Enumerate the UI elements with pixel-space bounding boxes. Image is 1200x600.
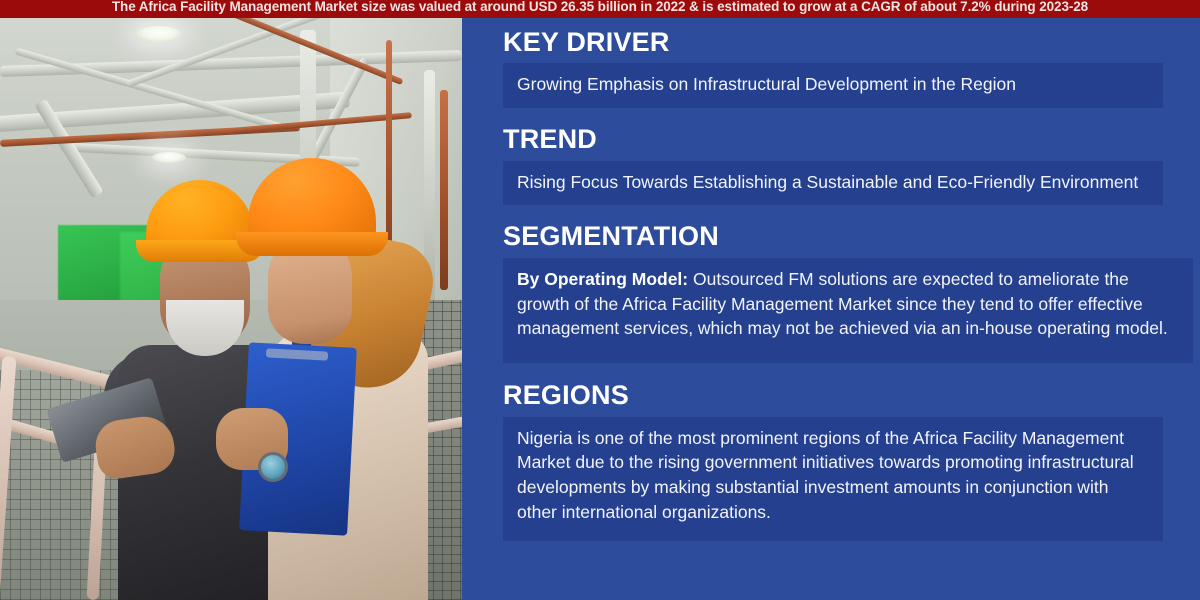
section-title-segmentation: SEGMENTATION (462, 222, 1200, 250)
section-segmentation: SEGMENTATION By Operating Model: Outsour… (462, 222, 1200, 363)
section-title-regions: REGIONS (462, 381, 1200, 409)
market-size-ticker-banner: The Africa Facility Management Market si… (0, 0, 1200, 18)
facility-management-photo (0, 0, 462, 600)
hard-hat-brim (236, 232, 388, 256)
section-title-trend: TREND (462, 125, 1200, 153)
infographic-root: The Africa Facility Management Market si… (0, 0, 1200, 600)
sections-list: KEY DRIVER Growing Emphasis on Infrastru… (462, 18, 1200, 541)
section-body-key-driver: Growing Emphasis on Infrastructural Deve… (503, 63, 1163, 108)
wrist-watch (258, 452, 288, 482)
photo-scene (0, 0, 462, 600)
section-key-driver: KEY DRIVER Growing Emphasis on Infrastru… (462, 28, 1200, 108)
ceiling-lamp (136, 26, 182, 42)
segmentation-lead-label: By Operating Model: (517, 269, 688, 289)
ticker-text: The Africa Facility Management Market si… (0, 0, 1200, 16)
section-body-trend: Rising Focus Towards Establishing a Sust… (503, 161, 1163, 206)
section-title-key-driver: KEY DRIVER (462, 28, 1200, 56)
rust-pipe (440, 90, 448, 290)
section-body-segmentation: By Operating Model: Outsourced FM soluti… (503, 258, 1193, 364)
content-panel: KEY DRIVER Growing Emphasis on Infrastru… (462, 0, 1200, 600)
section-body-regions: Nigeria is one of the most prominent reg… (503, 417, 1163, 541)
section-trend: TREND Rising Focus Towards Establishing … (462, 125, 1200, 205)
ceiling-lamp (152, 152, 186, 163)
section-regions: REGIONS Nigeria is one of the most promi… (462, 381, 1200, 541)
